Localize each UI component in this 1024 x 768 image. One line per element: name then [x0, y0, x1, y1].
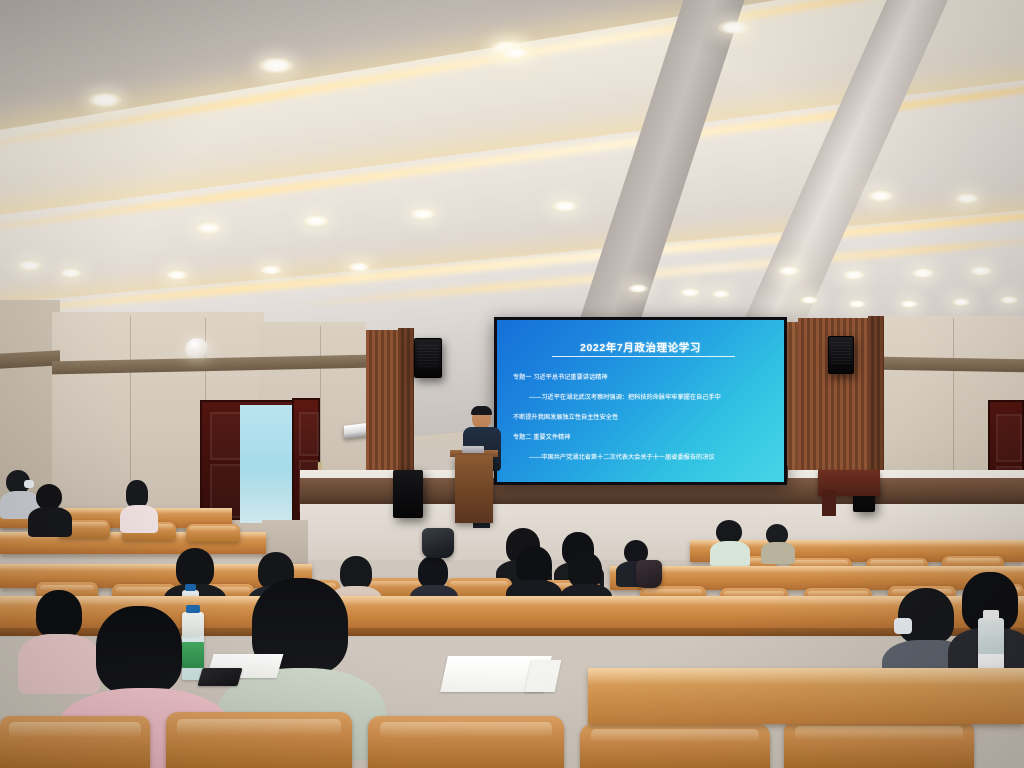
chair[interactable] [784, 720, 974, 768]
ceiling-downlight-21 [628, 284, 648, 293]
ceiling-downlight-25 [848, 300, 866, 308]
face-mask [894, 618, 912, 634]
projection-screen: 2022年7月政治理论学习 专题一 习近平总书记重要讲话精神 ——习近平在湖北武… [497, 320, 784, 482]
ceiling-downlight-16 [348, 262, 370, 272]
stage-side-table-leg [822, 490, 836, 516]
slide-line-1: 专题一 习近平总书记重要讲话精神 [513, 372, 608, 381]
ceiling-downlight-12 [18, 260, 42, 271]
bottle-cap [983, 610, 999, 619]
ceiling-downlight-17 [778, 266, 800, 276]
ceiling-downlight-11 [955, 193, 979, 204]
ceiling-downlight-10 [868, 190, 894, 202]
bottle-cap [186, 605, 200, 613]
water-bottle[interactable] [182, 612, 204, 680]
face-mask [24, 480, 34, 488]
ceiling-downlight-4 [718, 20, 750, 35]
slide-line-2: ——习近平在湖北武汉考察时强调：把科技的命脉牢牢掌握在自己手中 [529, 392, 721, 401]
slide-line-3: 不断提升我国发展独立性自主性安全性 [513, 412, 618, 421]
chair[interactable] [186, 524, 240, 542]
ceiling-downlight-9 [552, 200, 578, 212]
floor-speaker-left [393, 470, 423, 518]
bottle-cap [185, 584, 196, 591]
ceiling-downlight-19 [912, 268, 934, 278]
ceiling-downlight-14 [166, 270, 188, 280]
ceiling-downlight-24 [800, 296, 818, 304]
ceiling-downlight-23 [712, 290, 730, 298]
laptop-on-lectern [462, 446, 484, 453]
phone[interactable] [197, 668, 242, 686]
ceiling-downlight-22 [680, 288, 700, 297]
ceiling-downlight-18 [843, 270, 865, 280]
ceiling-downlight-20 [970, 266, 992, 276]
wall-band-right [884, 357, 1024, 372]
chair[interactable] [166, 712, 352, 768]
doorway-opening [240, 405, 296, 523]
wall-speaker-right [828, 336, 854, 374]
wall-band-left-return [0, 350, 60, 368]
lecture-hall-photo: 2022年7月政治理论学习 专题一 习近平总书记重要讲话精神 ——习近平在湖北武… [0, 0, 1024, 768]
wall-sconce-icon [185, 338, 209, 358]
wall-speaker-left [414, 338, 442, 378]
ceiling-downlight-2 [258, 57, 294, 74]
ceiling-downlight-6 [196, 222, 222, 234]
lectern [455, 455, 493, 523]
chair[interactable] [580, 724, 770, 768]
slide-title-underline [552, 356, 735, 357]
notebook-page[interactable] [525, 660, 562, 692]
slide-line-5: ——中国共产党湖北省第十二次代表大会关于十一届省委报告的决议 [529, 452, 715, 461]
ceiling-downlight-7 [303, 215, 329, 227]
ceiling-downlight-15 [260, 265, 282, 275]
ceiling-downlight-13 [60, 268, 82, 278]
ceiling-downlight-8 [410, 208, 436, 220]
chair[interactable] [0, 716, 150, 768]
desk-row-front-right [588, 668, 1024, 724]
projection-screen-frame: 2022年7月政治理论学习 专题一 习近平总书记重要讲话精神 ——习近平在湖北武… [494, 317, 787, 485]
slide-line-4: 专题二 重要文件精神 [513, 432, 570, 441]
backpack[interactable] [422, 528, 454, 558]
bottle-label [182, 642, 204, 668]
ceiling-downlight-1 [88, 92, 122, 108]
handbag[interactable] [636, 560, 662, 588]
ceiling-downlight-28 [1000, 296, 1018, 304]
presenter-hair [471, 406, 492, 415]
ceiling-downlight-26 [900, 300, 918, 308]
ceiling-downlight-5 [500, 46, 530, 60]
ceiling-downlight-27 [952, 298, 970, 306]
chair[interactable] [368, 716, 564, 768]
slide-title: 2022年7月政治理论学习 [497, 340, 784, 355]
